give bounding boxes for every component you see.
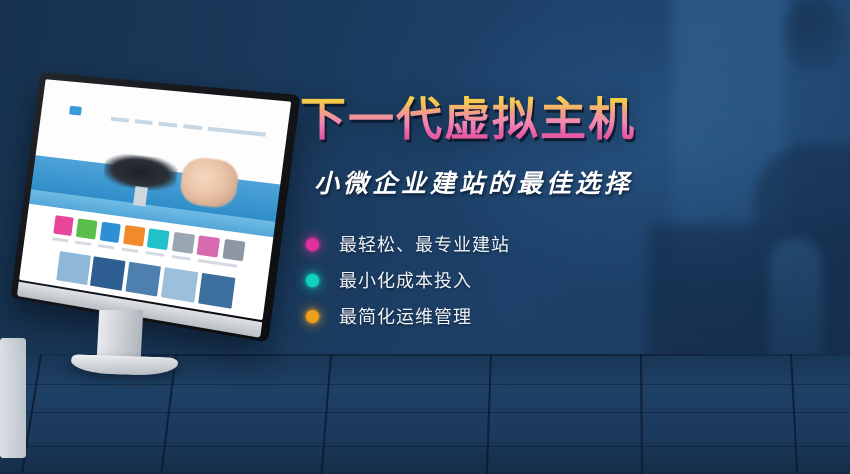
feature-list-item: 最轻松、最专业建站 xyxy=(306,226,720,262)
website-thumbnail xyxy=(198,273,236,308)
feature-list-item-label: 最小化成本投入 xyxy=(339,267,472,293)
website-app-icon xyxy=(99,222,121,243)
website-logo-icon xyxy=(69,106,82,116)
silhouette-head xyxy=(784,0,846,70)
monitor-stand-neck xyxy=(97,310,144,358)
website-thumbnail xyxy=(125,262,161,296)
website-app-icon xyxy=(53,215,74,236)
website-app-icon xyxy=(76,219,97,240)
feature-list-item: 最小化成本投入 xyxy=(306,262,720,298)
feature-list-item-label: 最简化运维管理 xyxy=(339,303,472,329)
hosting-promo-banner: 下一代虚拟主机 小微企业建站的最佳选择 最轻松、最专业建站最小化成本投入最简化运… xyxy=(0,0,850,474)
page-title: 下一代虚拟主机 xyxy=(300,96,720,142)
promo-copy-block: 下一代虚拟主机 小微企业建站的最佳选择 最轻松、最专业建站最小化成本投入最简化运… xyxy=(300,96,720,334)
website-app-icon xyxy=(197,236,220,258)
feature-list-item-label: 最轻松、最专业建站 xyxy=(339,231,510,257)
monitor-bezel xyxy=(10,72,300,342)
website-hero-object-stand xyxy=(133,186,148,206)
website-thumbnail xyxy=(161,267,198,302)
monitor-illustration xyxy=(14,82,294,392)
feature-list: 最轻松、最专业建站最小化成本投入最简化运维管理 xyxy=(300,226,720,334)
page-subtitle: 小微企业建站的最佳选择 xyxy=(300,164,720,200)
bullet-dot-teal-icon xyxy=(306,274,319,287)
monitor-stand-base xyxy=(68,354,179,376)
website-app-icon xyxy=(147,229,169,251)
feature-list-item: 最简化运维管理 xyxy=(306,298,720,334)
bullet-dot-orange-icon xyxy=(306,310,319,323)
bullet-dot-magenta-icon xyxy=(306,238,319,251)
monitor-side-edge xyxy=(0,338,26,458)
website-thumbnail xyxy=(56,251,91,285)
website-app-icon xyxy=(222,239,246,261)
monitor-screen xyxy=(19,79,291,320)
website-thumbnail xyxy=(90,256,125,290)
website-app-icon xyxy=(172,232,195,254)
website-app-icon xyxy=(123,225,145,247)
